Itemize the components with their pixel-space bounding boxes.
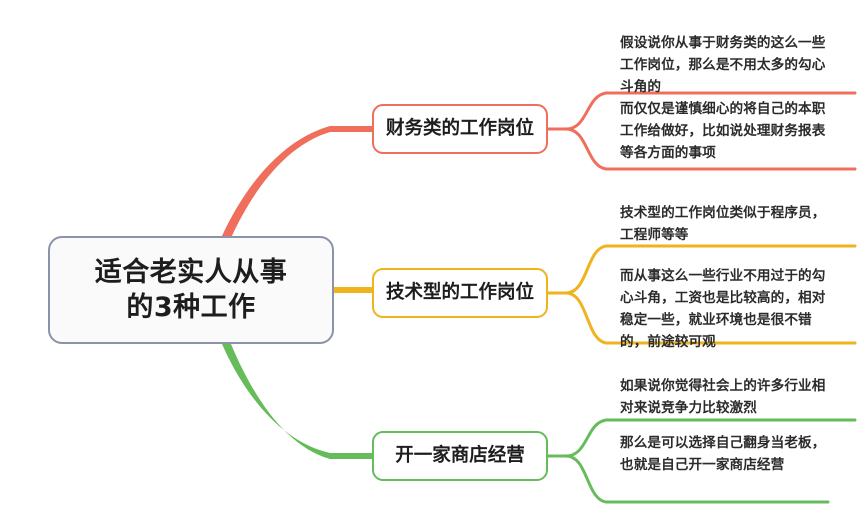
- branch-node-finance[interactable]: 财务类的工作岗位: [372, 104, 548, 154]
- leaf-node-technical-1-text: 技术型的工作岗位类似于程序员，工程师等等: [620, 202, 836, 246]
- leaf-node-shop-2[interactable]: 那么是可以选择自己翻身当老板，也就是自己开一家商店经营: [620, 432, 836, 476]
- leaf-node-shop-1[interactable]: 如果说你觉得社会上的许多行业相对来说竞争力比较激烈: [620, 375, 836, 419]
- connector-trunk-1: [334, 287, 372, 293]
- leaf-node-technical-1[interactable]: 技术型的工作岗位类似于程序员，工程师等等: [620, 202, 836, 246]
- connector-trunk-0: [222, 126, 372, 238]
- connector-trunk-2: [222, 344, 372, 459]
- root-node[interactable]: 适合老实人从事 的3种工作: [48, 236, 334, 344]
- branch-node-technical-label: 技术型的工作岗位: [386, 282, 534, 304]
- branch-node-shop[interactable]: 开一家商店经营: [372, 431, 548, 481]
- branch-node-shop-label: 开一家商店经营: [395, 445, 525, 467]
- leaf-node-finance-1-text: 假设说你从事于财务类的这么一些工作岗位，那么是不用太多的勾心斗角的: [620, 32, 836, 98]
- leaf-node-technical-2-text: 而从事这么一些行业不用过于的勾心斗角，工资也是比较高的，相对稳定一些，就业环境也…: [620, 265, 836, 353]
- root-node-label: 适合老实人从事 的3种工作: [95, 255, 288, 325]
- leaf-node-finance-2[interactable]: 而仅仅是谨慎细心的将自己的本职工作给做好，比如说处理财务报表等各方面的事项: [620, 98, 836, 164]
- mindmap-canvas: 适合老实人从事 的3种工作 财务类的工作岗位 技术型的工作岗位 开一家商店经营 …: [0, 0, 866, 523]
- leaf-node-shop-1-text: 如果说你觉得社会上的许多行业相对来说竞争力比较激烈: [620, 375, 836, 419]
- leaf-node-technical-2[interactable]: 而从事这么一些行业不用过于的勾心斗角，工资也是比较高的，相对稳定一些，就业环境也…: [620, 265, 836, 353]
- leaf-node-finance-2-text: 而仅仅是谨慎细心的将自己的本职工作给做好，比如说处理财务报表等各方面的事项: [620, 98, 836, 164]
- branch-node-finance-label: 财务类的工作岗位: [386, 118, 534, 140]
- leaf-node-shop-2-text: 那么是可以选择自己翻身当老板，也就是自己开一家商店经营: [620, 432, 836, 476]
- leaf-node-finance-1[interactable]: 假设说你从事于财务类的这么一些工作岗位，那么是不用太多的勾心斗角的: [620, 32, 836, 98]
- branch-node-technical[interactable]: 技术型的工作岗位: [372, 268, 548, 318]
